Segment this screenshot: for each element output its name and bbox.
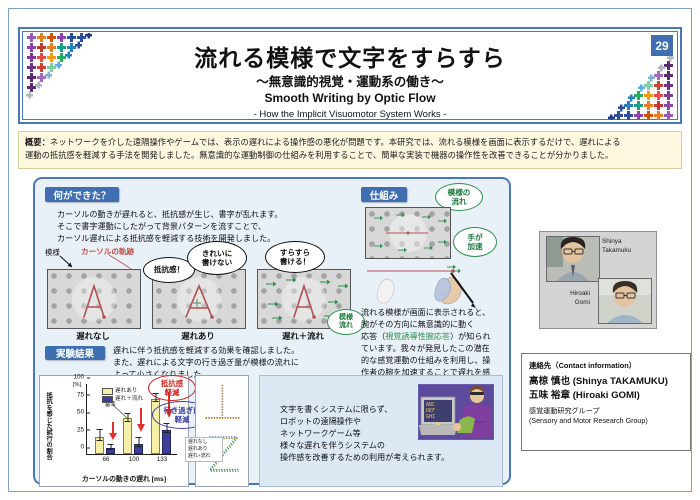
bubble-cannot-write-neatly: きれいに 書けない: [187, 241, 247, 275]
chart-legend-label-1: 遅れあり: [115, 387, 137, 395]
bubble-pattern-flow-small: 模様 流れ: [327, 309, 365, 335]
person-with-laptop-icon: ABCDEFGHI: [419, 385, 493, 439]
trace-legend: 遅れなし 遅れあり 遅れ+流れ: [185, 437, 223, 462]
chart-errorbar-yellow-66: [99, 429, 100, 441]
subtitle-english: Smooth Writing by Optic Flow: [20, 91, 680, 105]
svg-text:GHI: GHI: [426, 414, 435, 420]
page-title: 流れる模様で文字をすらすら: [20, 39, 680, 73]
portrait-1-icon: [547, 237, 599, 281]
page-number-badge: 29: [651, 35, 673, 56]
chart-bar-blue-100: [134, 444, 143, 455]
photo-hiroaki-gomi: [598, 278, 652, 324]
chart-legend-item-1: 遅れあり: [102, 387, 143, 395]
abstract-line-2: 運動の抵抗感を軽減する手法を開発しました。無意識的な運動制御の仕組みを利用するこ…: [25, 149, 675, 162]
chart-legend-swatch-blue: [102, 396, 113, 403]
chart-red-arrow-66-icon: [109, 422, 117, 440]
researcher-photos-box: Shinya Takamuku Hiroaki Gomi: [539, 231, 657, 329]
trace-legend-item-1: 遅れなし: [188, 439, 220, 446]
callout-resistance-reduced: 抵抗感 軽減: [148, 375, 196, 401]
chart-y-axis-unit: [%]: [73, 382, 81, 388]
application-text-4: 様々な遅れを伴うシステムの: [280, 440, 480, 452]
pattern-pointer-arrow-icon: [59, 255, 75, 269]
chart-annotation-leader-line-icon: [113, 405, 129, 419]
chart-xtick-66: 66: [102, 456, 109, 463]
application-text-5: 操作感を改善するための利用が考えられます。: [280, 452, 500, 464]
trace-legend-item-2: 遅れあり: [188, 446, 220, 453]
contact-heading: 連絡先（Contact information）: [529, 360, 683, 371]
mechanism-text-1: 流れる模様が画面に表示されると、: [361, 307, 521, 319]
chart-y-axis-label: 抵抗を感じた試行の割合: [42, 386, 54, 466]
chart-ytick-0: 0: [80, 444, 87, 451]
bubble-hand-accelerates: 手が 加速: [453, 227, 497, 257]
chart-x-axis-label: カーソルの動きの遅れ [ms]: [60, 473, 188, 483]
subtitle-japanese: ～無意識的視覚・運動系の働き～: [20, 71, 680, 90]
contact-box: 連絡先（Contact information） 高椋 慎也 (Shinya T…: [521, 353, 691, 451]
mechanism-text-4: ています。我々が発見したこの潜在: [361, 343, 521, 355]
subtitle-english-secondary: - How the Implicit Visuomotor System Wor…: [20, 109, 680, 120]
contact-name-2: 五味 裕章 (Hiroaki GOMI): [529, 389, 683, 403]
mechanism-text-3-highlight: 視覚誘導性腕応答: [385, 332, 450, 341]
what-text-1: カーソルの動きが遅れると、抵抗感が生じ、書字が乱れます。: [57, 209, 347, 221]
poster-root: 流れる模様で文字をすらすら ～無意識的視覚・運動系の働き～ Smooth Wri…: [8, 8, 692, 492]
section-tag-what: 何ができた？: [45, 187, 119, 202]
caption-panel-1: 遅れなし: [47, 330, 139, 342]
bubble-write-smoothly: すらすら 書ける！: [265, 241, 325, 273]
results-text-2: また、遅れによる文字の行き過ぎ量が模様の流れに: [113, 357, 353, 369]
chart-legend: 遅れあり 遅れ＋流れ: [102, 387, 143, 404]
mechanism-text-3-pre: 応答（: [361, 332, 385, 341]
title-block: 流れる模様で文字をすらすら ～無意識的視覚・運動系の働き～ Smooth Wri…: [18, 27, 682, 124]
mechanism-text-3-post: ）が知られ: [450, 332, 490, 341]
chart-ytick-75: 75: [77, 391, 87, 398]
chart-xtick-133: 133: [157, 456, 168, 463]
abstract-line-1: ネットワークを介した遠隔操作やゲームでは、表示の遅れによる操作感の悪化が問題です…: [50, 137, 621, 147]
what-text-2: そこで書字運動にしたがって背景パターンを流すことで、: [57, 221, 347, 233]
abstract-box: 概要：ネットワークを介した遠隔操作やゲームでは、表示の遅れによる操作感の悪化が問…: [18, 131, 682, 169]
chart-errorbar-blue-100: [138, 437, 139, 447]
chart-bar-yellow-100: [123, 418, 132, 454]
handwriting-trace-card: [195, 375, 249, 487]
chart-bar-blue-133: [162, 430, 171, 455]
remote-operation-illustration: ABCDEFGHI: [418, 384, 494, 440]
chart-ytick-25: 25: [77, 426, 87, 433]
mechanism-text-3: 応答（視覚誘導性腕応答）が知られ: [361, 331, 521, 343]
chart-legend-swatch-yellow: [102, 388, 113, 395]
results-text-1: 遅れに伴う抵抗感を軽減する効果を確認しました。: [113, 345, 353, 357]
chart-legend-label-2: 遅れ＋流れ: [115, 395, 143, 403]
abstract-label: 概要：: [25, 137, 50, 147]
mechanism-flow-display: [365, 207, 451, 259]
photo-shinya-takamuku: [546, 236, 600, 282]
contact-name-1: 高椋 慎也 (Shinya TAKAMUKU): [529, 375, 683, 389]
letter-z-trace-icon: [196, 376, 248, 486]
photo-name-gomi: Hiroaki Gomi: [550, 290, 590, 307]
chart-ytick-100: 100: [73, 374, 87, 381]
mechanism-text-5: 的な感覚運動の仕組みを利用し、操: [361, 355, 521, 367]
chart-bar-yellow-66: [95, 437, 104, 455]
section-tag-results: 実験結果: [45, 346, 105, 360]
portrait-2-icon: [599, 279, 651, 323]
caption-panel-2: 遅れあり: [152, 330, 244, 342]
contact-group-en: (Sensory and Motor Research Group): [529, 417, 683, 427]
mechanism-text-2: 腕がその方向に無意識的に動く: [361, 319, 521, 331]
photo-name-takamuku: Shinya Takamuku: [602, 238, 631, 255]
hand-and-pen-illustration-icon: [361, 261, 501, 309]
chart-bar-blue-66: [106, 448, 115, 454]
application-box: 文字を書くシステムに限らず、 ロボットの遠隔操作や ネットワークゲーム等 様々な…: [259, 375, 503, 487]
trace-legend-item-3: 遅れ+流れ: [188, 453, 220, 460]
letter-a-trace-1-icon: [48, 270, 140, 328]
chart-ytick-50: 50: [77, 409, 87, 416]
flow-arrows-icon: [366, 208, 450, 258]
stimulus-panel-no-delay: [47, 269, 141, 329]
chart-red-arrow-100-icon: [137, 408, 145, 432]
chart-errorbar-blue-66: [110, 444, 111, 450]
label-pattern: 模様: [45, 247, 60, 258]
chart-legend-item-2: 遅れ＋流れ: [102, 395, 143, 403]
contact-group-ja: 感覚運動研究グループ: [529, 407, 683, 417]
chart-xtick-100: 100: [129, 456, 140, 463]
section-tag-mechanism: 仕組み: [361, 187, 407, 202]
